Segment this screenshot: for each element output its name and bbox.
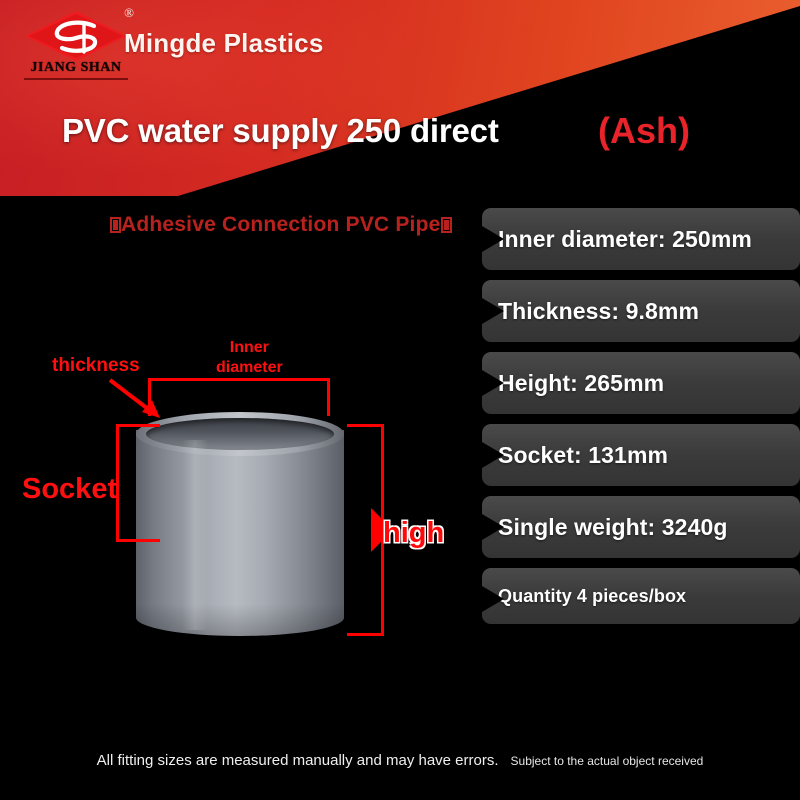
spec-badge-height: Height: 265mm bbox=[482, 352, 800, 414]
thickness-annotation-label: thickness bbox=[52, 355, 140, 377]
spec-label: Single weight: 3240g bbox=[498, 514, 728, 541]
missing-glyph-right-icon bbox=[441, 217, 452, 233]
inner-diameter-line-2: diameter bbox=[216, 358, 283, 378]
inner-diameter-tick-right bbox=[327, 378, 330, 416]
inner-diameter-dimension-line bbox=[148, 378, 330, 381]
subtitle-text: Adhesive Connection PVC Pipe bbox=[121, 213, 441, 236]
spec-badge-thickness: Thickness: 9.8mm bbox=[482, 280, 800, 342]
pvc-coupling-graphic bbox=[136, 412, 344, 644]
pipe-bottom-shadow bbox=[136, 604, 344, 644]
logo-underline-rule bbox=[24, 78, 128, 80]
footer-sub-note: Subject to the actual object received bbox=[511, 754, 704, 768]
spec-label: Height: 265mm bbox=[498, 370, 664, 397]
inner-diameter-line-1: Inner bbox=[216, 338, 283, 358]
spec-label: Thickness: 9.8mm bbox=[498, 298, 699, 325]
socket-tick-top bbox=[116, 424, 160, 427]
spec-badge-socket: Socket: 131mm bbox=[482, 424, 800, 486]
inner-diameter-annotation-label: Inner diameter bbox=[216, 338, 283, 378]
logo-diamond-icon bbox=[24, 10, 128, 62]
brand-name: Mingde Plastics bbox=[124, 28, 324, 59]
spec-label: Socket: 131mm bbox=[498, 442, 668, 469]
page-title: PVC water supply 250 direct bbox=[62, 112, 499, 150]
spec-badge-inner-diameter: Inner diameter: 250mm bbox=[482, 208, 800, 270]
height-tick-bottom bbox=[347, 633, 384, 636]
pipe-specular-highlight bbox=[182, 440, 208, 630]
socket-annotation-label: Socket bbox=[22, 473, 117, 506]
missing-glyph-left-icon bbox=[110, 217, 121, 233]
spec-label: Quantity 4 pieces/box bbox=[498, 586, 686, 607]
height-tick-top bbox=[347, 424, 384, 427]
spec-label: Inner diameter: 250mm bbox=[498, 226, 752, 253]
brand-logo: ® JIANG SHAN bbox=[20, 8, 132, 84]
footer-disclaimer: All fitting sizes are measured manually … bbox=[0, 752, 800, 769]
thickness-arrow-icon bbox=[108, 378, 168, 422]
spec-badge-single-weight: Single weight: 3240g bbox=[482, 496, 800, 558]
spec-badge-quantity: Quantity 4 pieces/box bbox=[482, 568, 800, 624]
color-variant-label: (Ash) bbox=[598, 110, 690, 152]
pipe-bore-opening bbox=[146, 418, 334, 450]
socket-tick-bottom bbox=[116, 539, 160, 542]
specification-list: Inner diameter: 250mm Thickness: 9.8mm H… bbox=[482, 208, 800, 634]
product-subtitle: Adhesive Connection PVC Pipe bbox=[110, 213, 452, 237]
height-annotation-label: high bbox=[383, 517, 444, 550]
logo-company-text: JIANG SHAN bbox=[20, 60, 132, 75]
footer-main-note: All fitting sizes are measured manually … bbox=[97, 752, 499, 769]
registered-trademark-icon: ® bbox=[124, 6, 134, 19]
product-infographic: ® JIANG SHAN Mingde Plastics PVC water s… bbox=[0, 0, 800, 800]
